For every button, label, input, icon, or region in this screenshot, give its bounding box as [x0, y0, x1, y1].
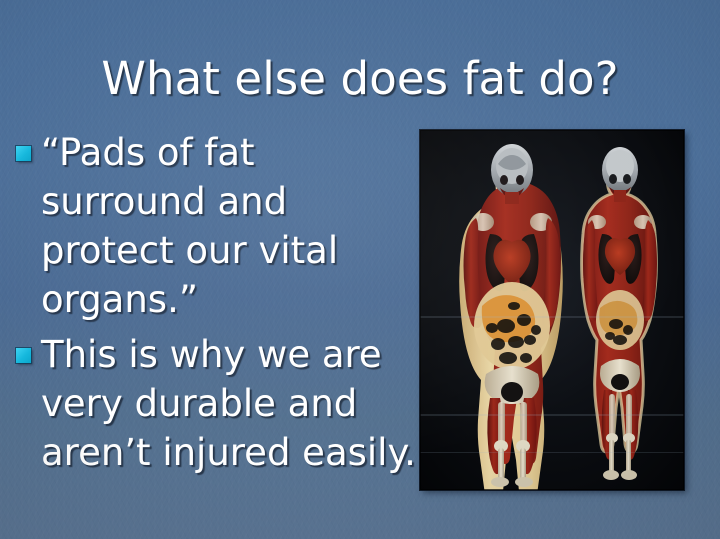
- bullet-square-icon: [16, 146, 31, 161]
- page-title: What else does fat do?: [0, 52, 720, 105]
- list-item: This is why we are very durable and aren…: [16, 330, 416, 477]
- slide: What else does fat do? “Pads of fat surr…: [0, 0, 720, 539]
- bullet-text: “Pads of fat surround and protect our vi…: [41, 128, 416, 324]
- anatomy-illustration: [420, 130, 684, 490]
- bullet-list: “Pads of fat surround and protect our vi…: [16, 128, 416, 483]
- anatomy-comparison-image: [420, 130, 684, 490]
- list-item: “Pads of fat surround and protect our vi…: [16, 128, 416, 324]
- bullet-text: This is why we are very durable and aren…: [41, 330, 416, 477]
- bullet-square-icon: [16, 348, 31, 363]
